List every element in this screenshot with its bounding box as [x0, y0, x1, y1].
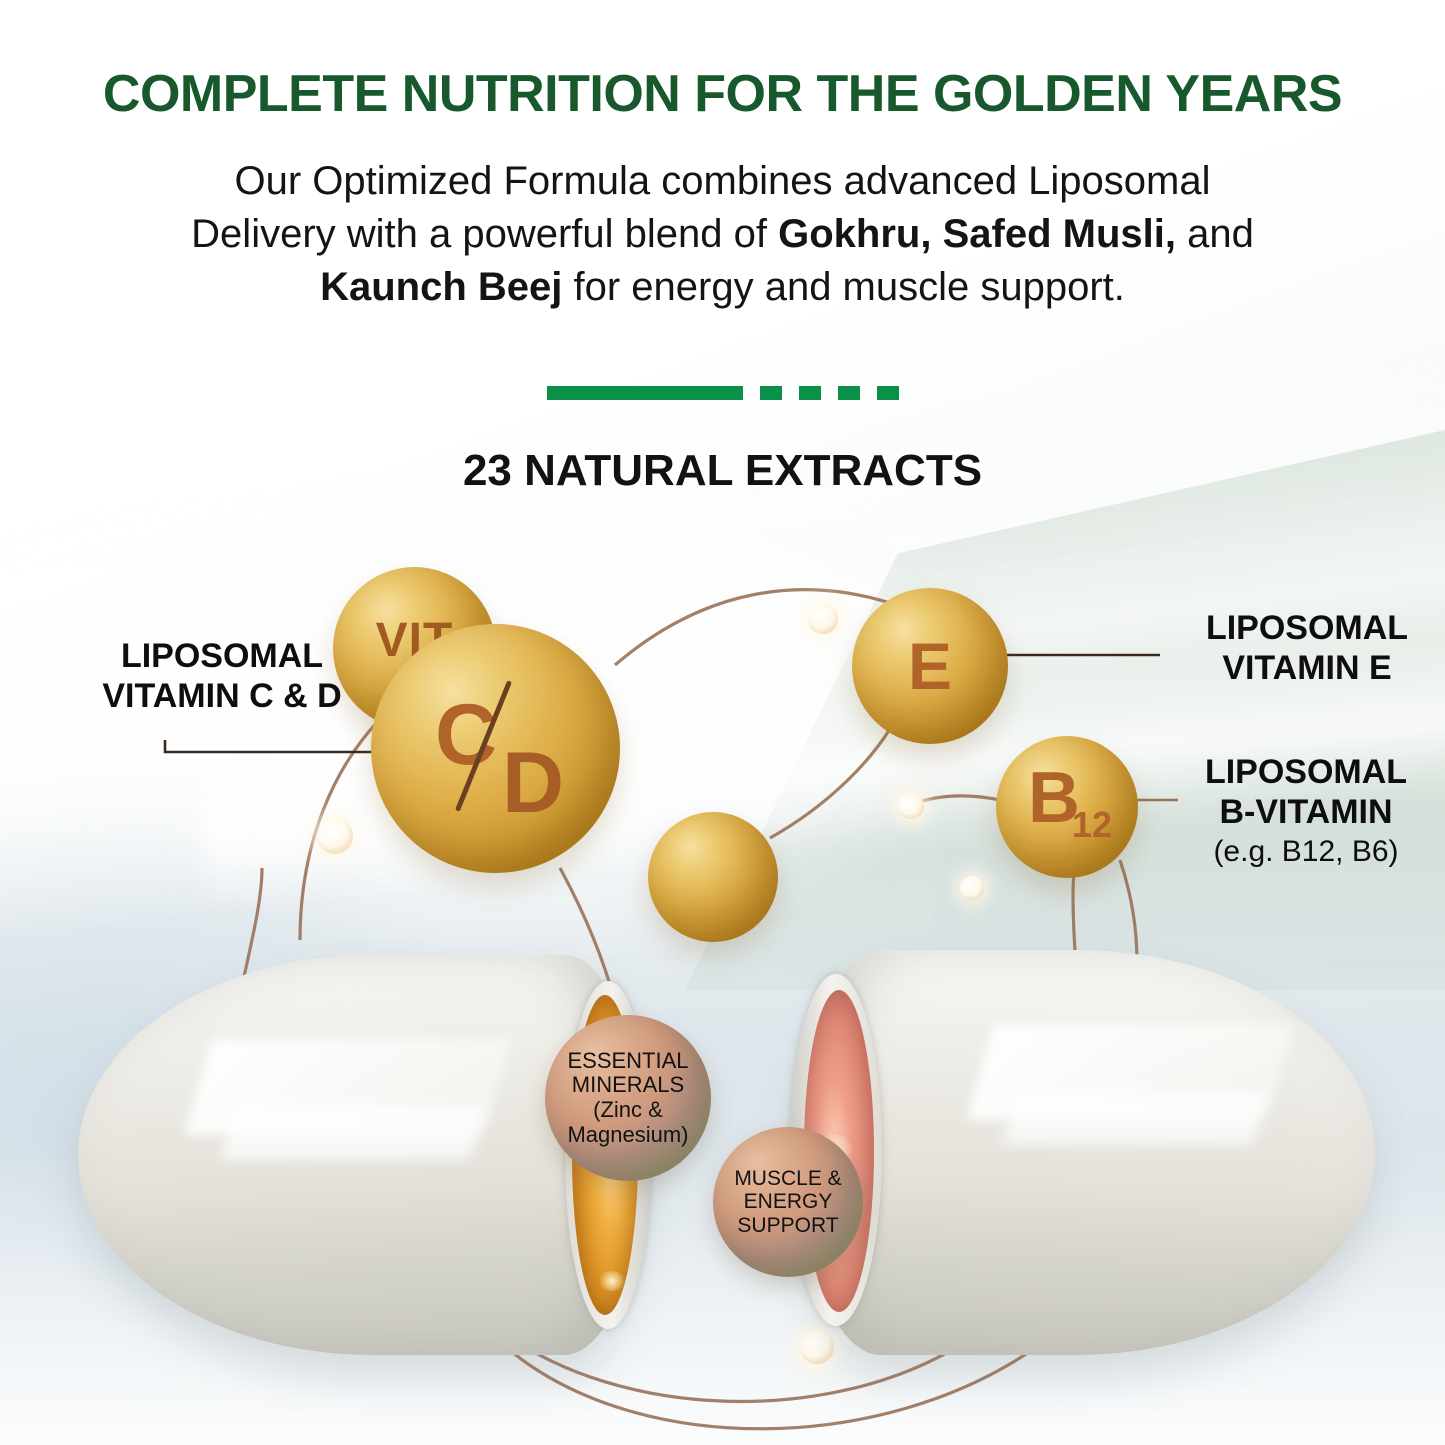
capsule-right-shell: [800, 950, 1375, 1355]
sphere-essential-minerals: ESSENTIAL MINERALS (Zinc & Magnesium): [545, 1015, 711, 1181]
sphere-vitamin-e: E: [852, 588, 1008, 744]
sphere-vitamin-b12: B 12: [996, 736, 1138, 878]
capsule-left-highlight-2: [220, 1105, 485, 1159]
capsule-half-right: [800, 950, 1375, 1355]
callout-b-line-1: LIPOSOMAL: [1160, 752, 1445, 792]
minerals-line-1: ESSENTIAL: [567, 1049, 688, 1074]
infographic-canvas: COMPLETE NUTRITION FOR THE GOLDEN YEARS …: [0, 0, 1445, 1445]
sphere-plain-gold: [648, 812, 778, 942]
minerals-line-3: (Zinc &: [593, 1098, 663, 1123]
callout-liposomal-vitamin-c-d: LIPOSOMAL VITAMIN C & D: [52, 636, 392, 716]
callout-left-line-2: VITAMIN C & D: [52, 676, 392, 716]
capsule-right-highlight-2: [1003, 1092, 1268, 1144]
minerals-line-4: Magnesium): [567, 1123, 688, 1148]
sphere-muscle-text: MUSCLE & ENERGY SUPPORT: [713, 1127, 863, 1277]
capsule-left-spark-2: [599, 1271, 625, 1291]
sphere-label-d: D: [502, 734, 564, 833]
callout-e-line-2: VITAMIN E: [1167, 648, 1445, 688]
callout-e-line-1: LIPOSOMAL: [1167, 608, 1445, 648]
muscle-line-3: SUPPORT: [737, 1214, 838, 1238]
muscle-line-1: MUSCLE &: [734, 1167, 841, 1191]
callout-left-line-1: LIPOSOMAL: [52, 636, 392, 676]
orbit-arc-bottom-outer: [512, 1348, 1035, 1429]
orbit-node-left: [317, 818, 353, 854]
callout-liposomal-b-vitamin: LIPOSOMAL B-VITAMIN (e.g. B12, B6): [1160, 752, 1445, 870]
sphere-muscle-energy: MUSCLE & ENERGY SUPPORT: [713, 1127, 863, 1277]
sphere-b-subscript-label: 12: [1072, 804, 1112, 846]
callout-b-line-2: B-VITAMIN: [1160, 792, 1445, 832]
callout-liposomal-vitamin-e: LIPOSOMAL VITAMIN E: [1167, 608, 1445, 688]
sphere-e-label: E: [852, 588, 1008, 744]
minerals-line-2: MINERALS: [572, 1073, 684, 1098]
muscle-line-2: ENERGY: [744, 1190, 833, 1214]
orbit-node-center: [898, 793, 924, 819]
sphere-minerals-text: ESSENTIAL MINERALS (Zinc & Magnesium): [545, 1015, 711, 1181]
orbit-node-top: [808, 604, 838, 634]
orbit-node-b12: [960, 876, 984, 900]
sphere-vitamin-c-d: C D: [371, 624, 620, 873]
callout-b-note: (e.g. B12, B6): [1160, 834, 1445, 869]
